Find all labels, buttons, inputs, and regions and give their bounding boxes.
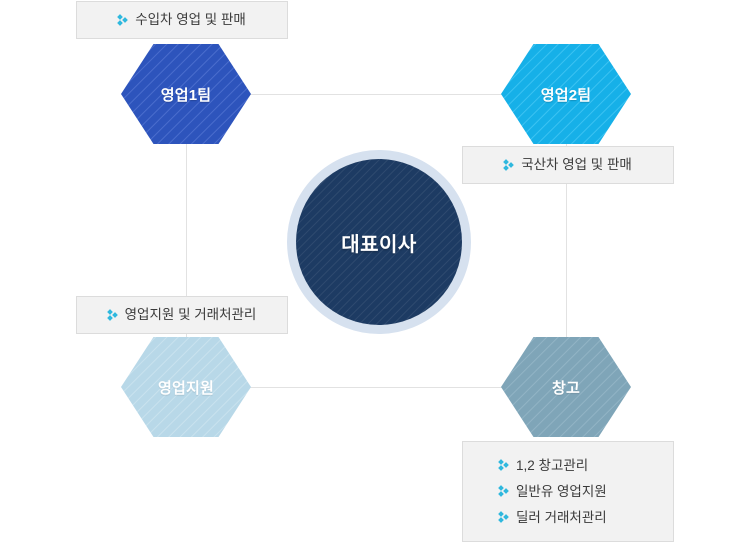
node-sales-team-1[interactable]: 영업1팀 [121, 44, 251, 144]
node-sales-team-2[interactable]: 영업2팀 [501, 44, 631, 144]
info-box-sales-support: 영업지원 및 거래처관리 [76, 296, 288, 334]
info-box-import-car: 수입차 영업 및 판매 [76, 1, 288, 39]
node-sales-support[interactable]: 영업지원 [121, 337, 251, 437]
info-row: 일반유 영업지원 [499, 479, 607, 505]
info-row: 국산차 영업 및 판매 [504, 152, 632, 178]
info-row-label: 딜러 거래처관리 [516, 505, 607, 531]
info-row-label: 국산차 영업 및 판매 [521, 152, 632, 178]
diamond-bullet-icon [504, 160, 515, 171]
info-row: 1,2 창고관리 [499, 453, 588, 479]
node-ceo-label: 대표이사 [341, 228, 417, 257]
info-row: 딜러 거래처관리 [499, 505, 607, 531]
info-box-domestic-car: 국산차 영업 및 판매 [462, 146, 674, 184]
diamond-bullet-icon [108, 310, 119, 321]
diamond-bullet-icon [499, 512, 510, 523]
info-box-warehouse: 1,2 창고관리 일반유 영업지원 딜러 거래처관리 [462, 441, 674, 542]
node-ceo[interactable]: 대표이사 [287, 150, 471, 334]
node-ceo-inner: 대표이사 [296, 159, 462, 325]
info-row: 수입차 영업 및 판매 [118, 7, 246, 33]
info-row-label: 일반유 영업지원 [516, 479, 607, 505]
info-row-label: 1,2 창고관리 [516, 453, 588, 479]
diamond-bullet-icon [499, 486, 510, 497]
node-warehouse[interactable]: 창고 [501, 337, 631, 437]
info-row-label: 수입차 영업 및 판매 [135, 7, 246, 33]
diamond-bullet-icon [118, 15, 129, 26]
info-row: 영업지원 및 거래처관리 [108, 302, 257, 328]
info-row-label: 영업지원 및 거래처관리 [125, 302, 257, 328]
diamond-bullet-icon [499, 460, 510, 471]
org-chart-diagram: 영업1팀 영업2팀 영업지원 [0, 0, 750, 552]
